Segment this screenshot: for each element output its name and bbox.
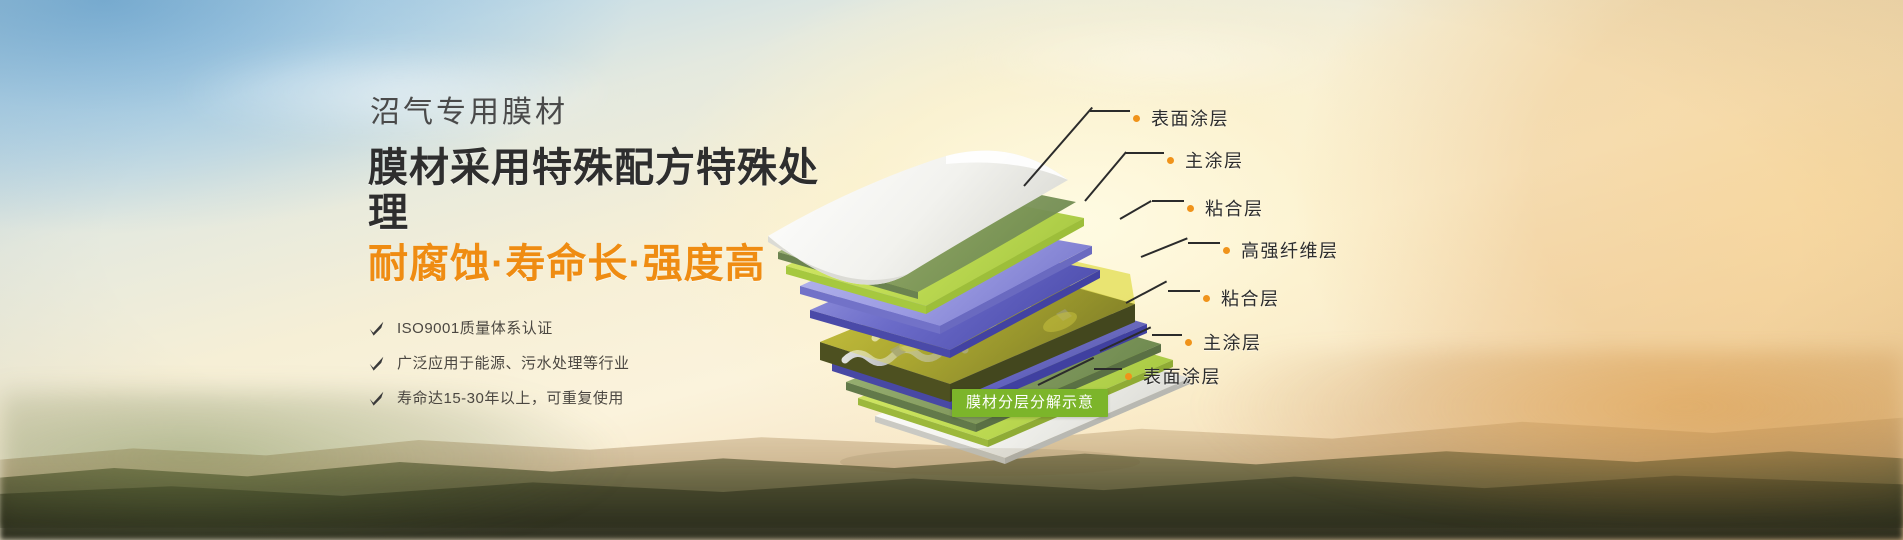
leader-line-4 — [1141, 237, 1188, 258]
callout-group: 表面涂层 主涂层 粘合层 高强纤维层 粘合层 — [0, 0, 1903, 540]
callout-surface-coating-bottom: 表面涂层 — [1125, 363, 1221, 389]
callout-dot — [1185, 339, 1192, 346]
leader-line-7 — [1038, 357, 1095, 386]
leader-line-1 — [1023, 107, 1093, 187]
leader-line-3b — [1152, 200, 1184, 202]
callout-label: 表面涂层 — [1151, 105, 1229, 131]
callout-dot — [1187, 205, 1194, 212]
leader-line-1b — [1090, 110, 1130, 112]
callout-label: 表面涂层 — [1143, 363, 1221, 389]
callout-label: 主涂层 — [1185, 147, 1244, 173]
leader-line-6 — [1100, 326, 1152, 351]
callout-dot — [1167, 157, 1174, 164]
callout-main-coating-bottom: 主涂层 — [1185, 329, 1262, 355]
callout-surface-coating-top: 表面涂层 — [1133, 105, 1229, 131]
callout-dot — [1133, 115, 1140, 122]
callout-dot — [1223, 247, 1230, 254]
callout-dot — [1203, 295, 1210, 302]
promo-banner: 沼气专用膜材 膜材采用特殊配方特殊处理 耐腐蚀·寿命长·强度高 ISO9001质… — [0, 0, 1903, 540]
leader-line-6b — [1152, 334, 1182, 336]
leader-line-3 — [1120, 200, 1152, 220]
diagram-caption-badge: 膜材分层分解示意 — [952, 389, 1108, 417]
callout-main-coating-top: 主涂层 — [1167, 147, 1244, 173]
leader-line-7b — [1094, 368, 1122, 370]
callout-dot — [1125, 373, 1132, 380]
callout-adhesive-top: 粘合层 — [1187, 195, 1264, 221]
leader-line-2 — [1084, 151, 1127, 201]
leader-line-5 — [1126, 281, 1168, 304]
callout-adhesive-bottom: 粘合层 — [1203, 285, 1280, 311]
leader-line-5b — [1168, 290, 1200, 292]
callout-label: 主涂层 — [1203, 329, 1262, 355]
leader-line-2b — [1126, 152, 1164, 154]
leader-line-4b — [1188, 242, 1220, 244]
callout-fiber-layer: 高强纤维层 — [1223, 237, 1339, 263]
callout-label: 粘合层 — [1221, 285, 1280, 311]
callout-label: 高强纤维层 — [1241, 237, 1339, 263]
callout-label: 粘合层 — [1205, 195, 1264, 221]
